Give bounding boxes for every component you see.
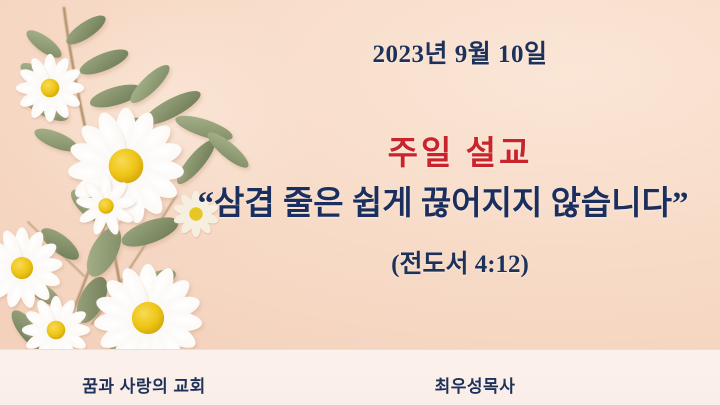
church-name: 꿈과 사랑의 교회	[24, 372, 264, 397]
sermon-title: “삼겹 줄은 쉽게 끊어지지 않습니다”	[170, 176, 716, 224]
scripture-reference: (전도서 4:12)	[250, 244, 670, 280]
footer-bar: 꿈과 사랑의 교회 최우성목사	[0, 349, 720, 405]
sermon-date: 2023년 9월 10일	[250, 34, 670, 70]
sermon-label: 주일 설교	[250, 126, 670, 174]
pastor-name: 최우성목사	[355, 372, 595, 397]
sermon-slide: 2023년 9월 10일 주일 설교 “삼겹 줄은 쉽게 끊어지지 않습니다” …	[0, 0, 720, 405]
